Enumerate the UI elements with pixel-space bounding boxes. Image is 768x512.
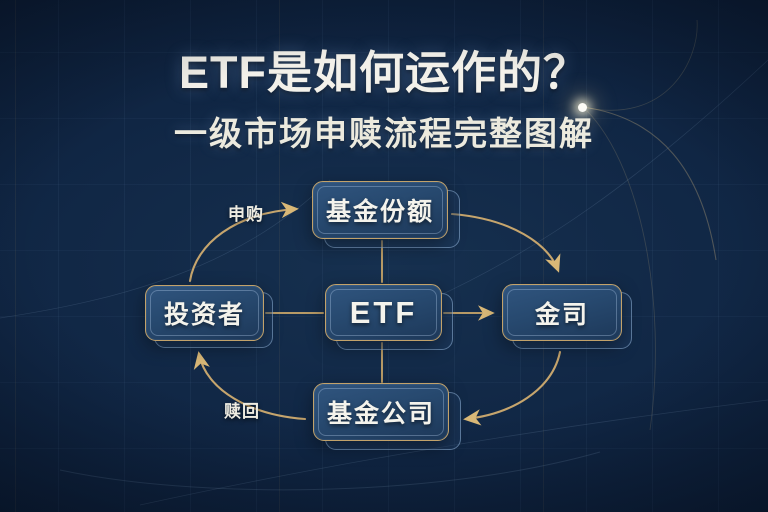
edge-gold-to-company: [466, 352, 560, 419]
node-fund-shares[interactable]: 基金份额: [312, 181, 448, 239]
node-fund-company[interactable]: 基金公司: [313, 383, 449, 441]
edge-label-redeem: 赎回: [224, 397, 260, 422]
node-gold-company[interactable]: 金司: [502, 284, 622, 341]
node-etf[interactable]: ETF: [325, 284, 442, 341]
edge-shares-to-gold: [452, 214, 558, 270]
infographic-canvas: ETF是如何运作的？ 一级市场申赎流程完整图解 基金份额 ETF 投资者 金司 …: [0, 0, 768, 512]
edge-label-subscribe: 申购: [228, 200, 264, 225]
node-investor[interactable]: 投资者: [145, 285, 264, 341]
